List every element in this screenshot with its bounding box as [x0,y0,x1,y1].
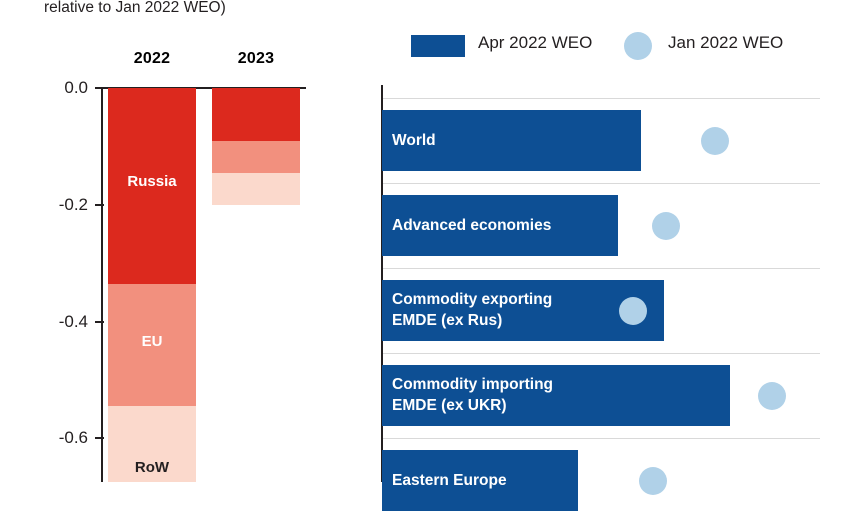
hbar-label-world: World [392,130,436,151]
hbar-label-advanced-economies: Advanced economies [392,215,551,236]
hbar-label-eastern-europe: Eastern Europe [392,470,507,491]
hbar-label-eastern-europe-line1: Eastern Europe [392,472,507,489]
y-tick-mark-3 [95,437,104,439]
y-tick-label-1: -0.2 [32,195,88,215]
screenshot-root: (percentage point contribution to global… [0,0,857,482]
bar-segment-label-eu: EU [108,333,196,350]
hbar-world: World [382,110,641,171]
hbar-label-commodity-importing-emde: Commodity importing EMDE (ex UKR) [392,374,553,416]
gridline-3 [382,353,820,354]
dot-eastern-europe [639,467,667,495]
y-tick-label-2: -0.4 [32,312,88,332]
hbar-label-commodity-exporting-emde-line2: EMDE (ex Rus) [392,310,552,331]
stacked-bar-2023 [212,88,300,205]
hbar-label-world-line1: World [392,132,436,149]
legend-label-apr-weo: Apr 2022 WEO [478,33,592,53]
stacked-bar-2022: Russia EU RoW [108,88,196,482]
left-subtitle: relative to Jan 2022 WEO) [44,0,374,18]
dot-commodity-exporting-emde [619,297,647,325]
column-header-2022: 2022 [108,50,196,68]
bar-segment-label-russia: Russia [108,173,196,190]
hbar-label-commodity-exporting-emde: Commodity exporting EMDE (ex Rus) [392,289,552,331]
legend-label-jan-weo: Jan 2022 WEO [668,33,783,53]
bar-segment-2023-eu [212,141,300,173]
y-tick-mark-2 [95,321,104,323]
gridline-1 [382,183,820,184]
right-chart-panel: Apr 2022 WEO Jan 2022 WEO World Advanced… [380,0,857,482]
bar-segment-2023-russia [212,88,300,141]
left-y-axis [101,88,103,482]
hbar-eastern-europe: Eastern Europe [382,450,578,511]
bar-segment-2022-row: RoW [108,406,196,482]
bar-segment-2022-russia: Russia [108,88,196,284]
hbar-commodity-importing-emde: Commodity importing EMDE (ex UKR) [382,365,730,426]
y-tick-mark-1 [95,204,104,206]
gridline-0 [382,98,820,99]
y-tick-mark-0 [95,87,104,89]
bar-segment-2022-eu: EU [108,284,196,406]
hbar-advanced-economies: Advanced economies [382,195,618,256]
dot-world [701,127,729,155]
dot-commodity-importing-emde [758,382,786,410]
gridline-2 [382,268,820,269]
hbar-label-commodity-exporting-emde-line1: Commodity exporting [392,289,552,310]
legend-dot-jan-weo [624,32,652,60]
hbar-label-commodity-importing-emde-line1: Commodity importing [392,374,553,395]
hbar-label-commodity-importing-emde-line2: EMDE (ex UKR) [392,395,553,416]
y-tick-label-0: 0.0 [32,78,88,98]
legend: Apr 2022 WEO Jan 2022 WEO [380,30,857,64]
bar-segment-label-row: RoW [108,459,196,476]
column-header-2023: 2023 [212,50,300,68]
dot-advanced-economies [652,212,680,240]
y-tick-label-3: -0.6 [32,428,88,448]
bar-segment-2023-row [212,173,300,205]
left-chart-panel: (percentage point contribution to global… [0,0,380,482]
hbar-label-advanced-economies-line1: Advanced economies [392,217,551,234]
gridline-4 [382,438,820,439]
legend-swatch-apr-weo [411,35,465,57]
